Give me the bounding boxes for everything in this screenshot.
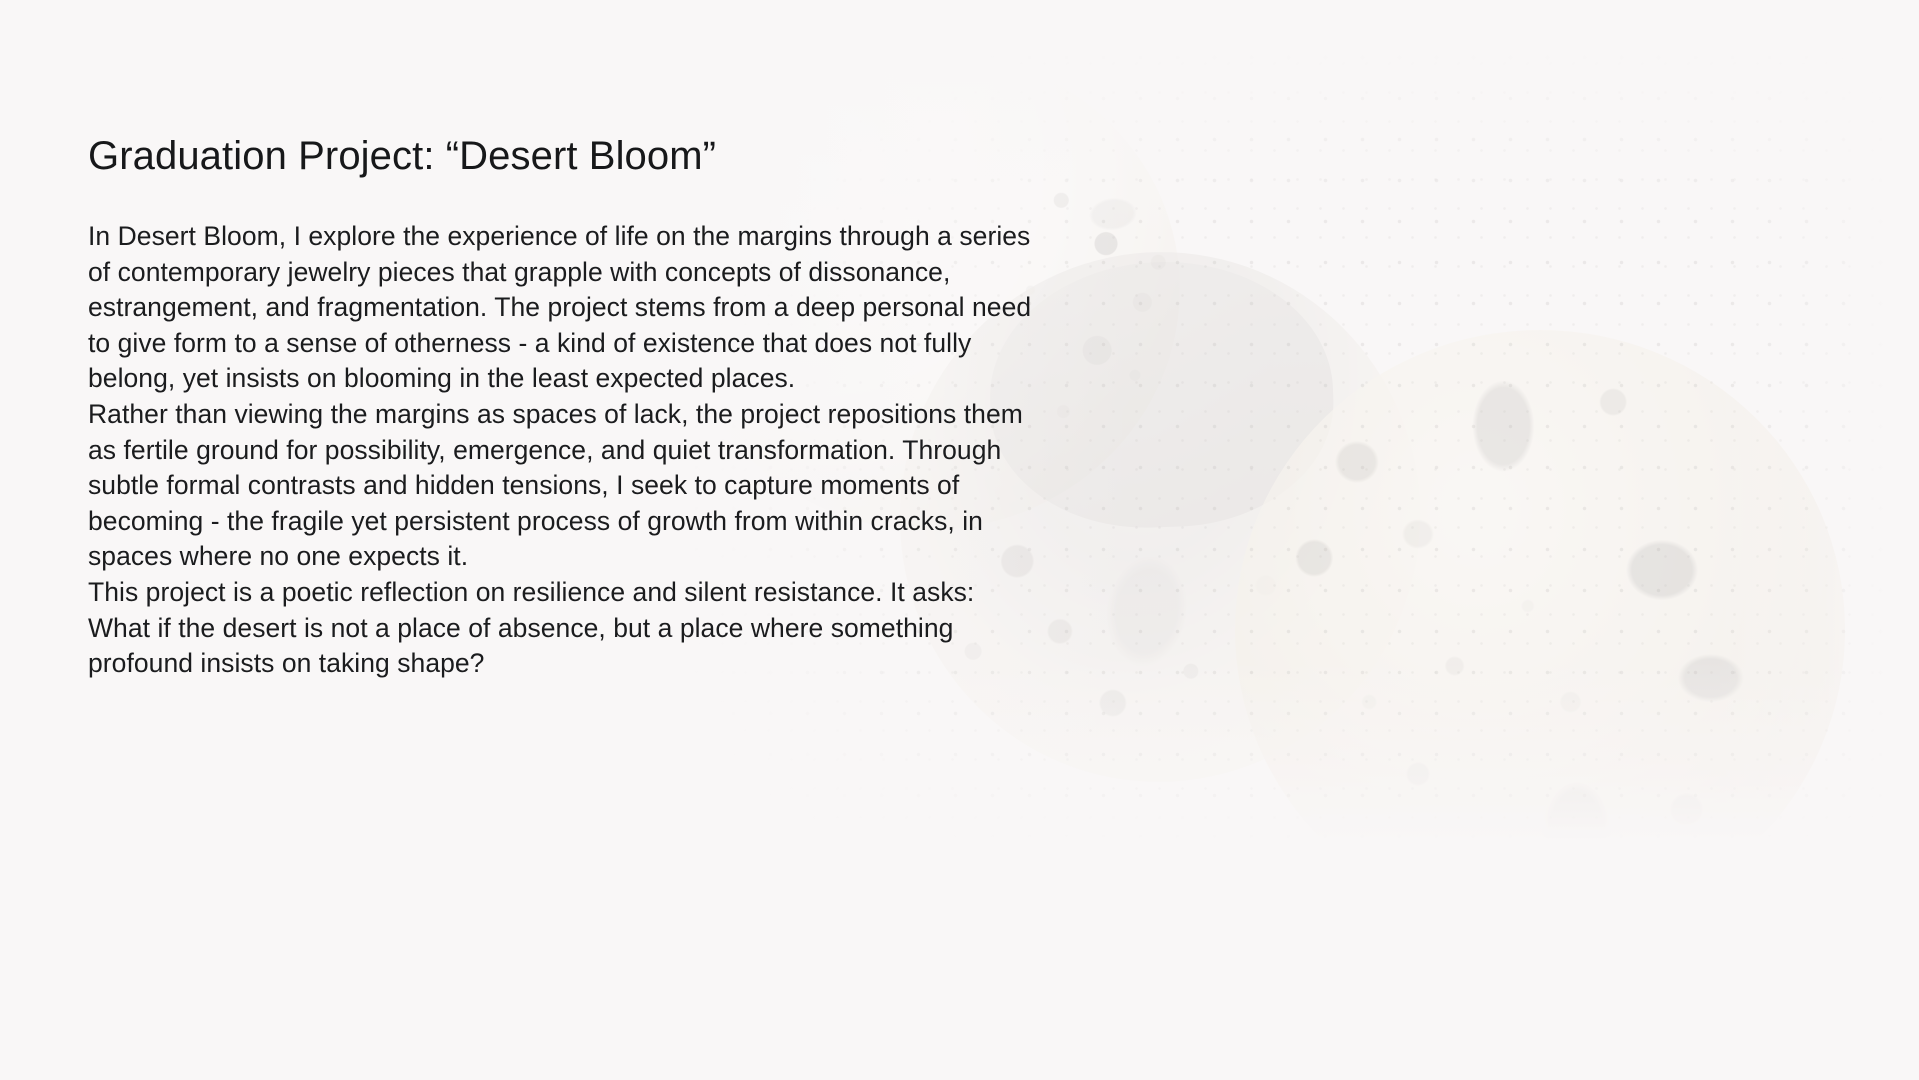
paragraph-3: This project is a poetic reflection on r…: [88, 575, 1033, 682]
slide-canvas: Graduation Project: “Desert Bloom” In De…: [0, 0, 1919, 1080]
project-description: In Desert Bloom, I explore the experienc…: [88, 219, 1068, 682]
slide-text-content: Graduation Project: “Desert Bloom” In De…: [88, 132, 1068, 682]
page-title: Graduation Project: “Desert Bloom”: [88, 132, 1068, 180]
sphere-lower-right-shape: [1235, 330, 1845, 840]
paragraph-2: Rather than viewing the margins as space…: [88, 397, 1033, 575]
paragraph-1: In Desert Bloom, I explore the experienc…: [88, 219, 1033, 397]
